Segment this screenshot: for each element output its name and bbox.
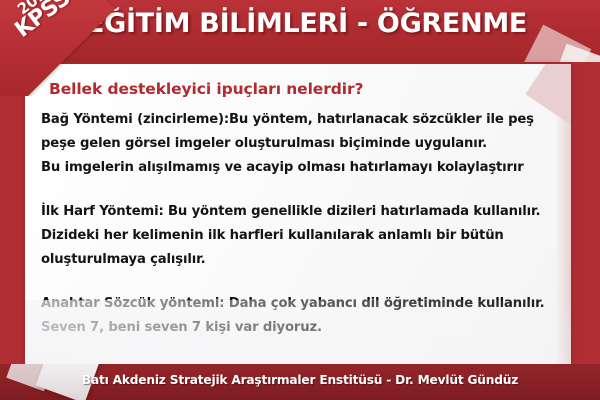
paragraph-bag-yontemi: Bağ Yöntemi (zincirleme):Bu yöntem, hatı…: [41, 108, 561, 180]
paragraph-line: Bağ Yöntemi (zincirleme):Bu yöntem, hatı…: [41, 108, 561, 132]
body-text: Bağ Yöntemi (zincirleme):Bu yöntem, hatı…: [41, 108, 561, 340]
paragraph-line: oluşturulmaya çalışılır.: [41, 248, 561, 272]
slide-root: EĞİTİM BİLİMLERİ - ÖĞRENME 2014 KPSS Bel…: [0, 0, 600, 400]
paragraph-line: Anahtar Sözcük yöntemi: Daha çok yabancı…: [41, 292, 561, 316]
slide-footer: Batı Akdeniz Stratejik Araştırmaler Enst…: [0, 364, 600, 400]
paragraph-line: Seven 7, beni seven 7 kişi var diyoruz.: [41, 316, 561, 340]
paragraph-line: İlk Harf Yöntemi: Bu yöntem genellikle d…: [41, 200, 561, 224]
paragraph-line: Dizideki her kelimenin ilk harfleri kull…: [41, 224, 561, 248]
content-panel: Bellek destekleyici ipuçları nelerdir? B…: [25, 64, 571, 364]
paragraph-line: peşe gelen görsel imgeler oluşturulması …: [41, 132, 561, 156]
footer-attribution: Batı Akdeniz Stratejik Araştırmaler Enst…: [0, 373, 600, 387]
paragraph-line: Bu imgelerin alışılmamış ve acayip olmas…: [41, 156, 561, 180]
paragraph-ilk-harf-yontemi: İlk Harf Yöntemi: Bu yöntem genellikle d…: [41, 200, 561, 272]
corner-badge: 2014 KPSS: [0, 0, 132, 96]
page-title: EĞİTİM BİLİMLERİ - ÖĞRENME: [86, 8, 527, 39]
paragraph-anahtar-sozcuk-yontemi: Anahtar Sözcük yöntemi: Daha çok yabancı…: [41, 292, 561, 340]
